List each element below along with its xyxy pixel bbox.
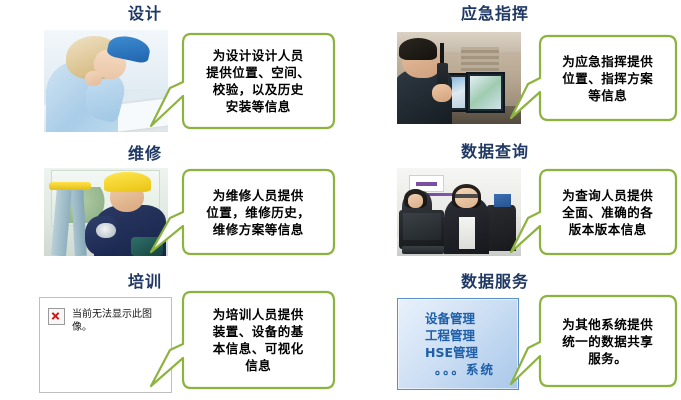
callout-query: 为查询人员提供 全面、准确的各 版本版本信息 <box>508 166 680 258</box>
panel-title-maintenance: 维修 <box>0 144 290 164</box>
callout-design-text: 为设计设计人员 提供位置、空间、 校验，以及历史 安装等信息 <box>186 30 330 132</box>
scenario-diagram: 设计 为设计设计人员 提供位置、空间、 校验，以及历史 安装等信息 应急指挥 <box>0 0 681 400</box>
callout-emergency: 为应急指挥提供 位置、指挥方案 等信息 <box>508 32 680 124</box>
callout-maintenance: 为维修人员提供 位置，维修历史， 维修方案等信息 <box>148 166 338 258</box>
callout-maintenance-text: 为维修人员提供 位置，维修历史， 维修方案等信息 <box>186 166 330 258</box>
panel-title-emergency: 应急指挥 <box>345 4 645 24</box>
callout-emergency-text: 为应急指挥提供 位置、指挥方案 等信息 <box>542 32 673 124</box>
service-item-0: 设备管理 <box>425 310 495 327</box>
broken-image-icon <box>48 308 65 325</box>
callout-training-text: 为培训人员提供 装置、设备的基 本信息、可视化 信息 <box>186 288 330 392</box>
service-item-2: HSE管理 <box>425 344 495 361</box>
service-systems-box: 设备管理 工程管理 HSE管理 。。。系统 <box>397 298 519 390</box>
callout-data-service-text: 为其他系统提供 统一的数据共享 服务。 <box>542 292 673 390</box>
service-item-1: 工程管理 <box>425 327 495 344</box>
panel-title-query: 数据查询 <box>345 142 645 162</box>
service-systems-list: 设备管理 工程管理 HSE管理 。。。系统 <box>421 310 495 378</box>
callout-design: 为设计设计人员 提供位置、空间、 校验，以及历史 安装等信息 <box>148 30 338 132</box>
panel-title-data-service: 数据服务 <box>345 272 645 292</box>
photo-data-query-operators <box>397 168 521 256</box>
callout-query-text: 为查询人员提供 全面、准确的各 版本版本信息 <box>542 166 673 258</box>
callout-data-service: 为其他系统提供 统一的数据共享 服务。 <box>508 292 680 390</box>
service-item-3: 。。。系统 <box>425 361 495 378</box>
photo-emergency-command <box>397 32 521 124</box>
callout-training: 为培训人员提供 装置、设备的基 本信息、可视化 信息 <box>148 288 338 392</box>
panel-title-design: 设计 <box>0 4 290 24</box>
